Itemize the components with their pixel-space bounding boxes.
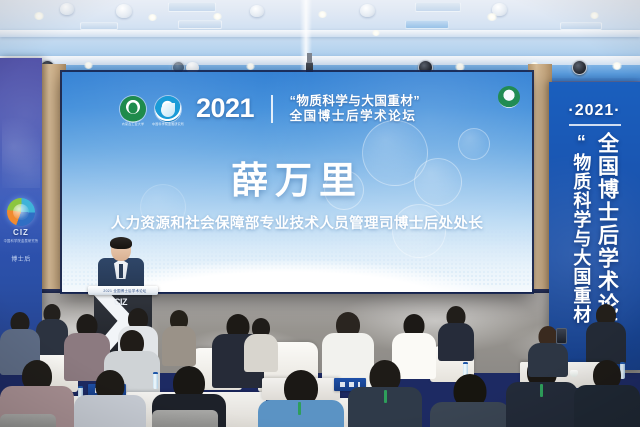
person-body: [162, 326, 196, 366]
ceiling-vent: [415, 2, 461, 12]
lanyard: [384, 390, 387, 403]
lanyard: [298, 402, 301, 415]
chair-back: [0, 414, 56, 427]
podium-plate: 2021 全国博士后学术论坛: [88, 286, 158, 295]
ceiling-speaker-dome: [360, 4, 375, 17]
conference-photo: 内蒙古工业大学 中国科学院金属研究所 2021 “物质科学与大国重材” 全国博士…: [0, 0, 640, 427]
downlight: [246, 63, 255, 70]
downlight: [455, 63, 465, 71]
banner-left-logo-icon: [7, 198, 35, 226]
screen-year: 2021: [196, 95, 254, 122]
ceiling-vent: [178, 20, 222, 29]
screen-title-block: “物质科学与大国重材” 全国博士后学术论坛: [290, 94, 421, 124]
audience-person: [74, 370, 146, 427]
screen-header: 内蒙古工业大学 中国科学院金属研究所 2021 “物质科学与大国重材” 全国博士…: [120, 94, 420, 124]
downlight: [487, 13, 497, 21]
ceiling-speaker-dome: [60, 3, 74, 15]
banner-left-logo-text: CIZ: [0, 228, 42, 237]
banner-right-rule: [569, 124, 621, 126]
person-body: [430, 402, 510, 427]
downlight: [34, 12, 44, 20]
person-body: [586, 322, 626, 364]
spotlight: [572, 60, 587, 75]
banner-right-year: ·2021·: [549, 102, 640, 120]
institute-emblem-icon: 中国科学院金属研究所: [155, 96, 181, 122]
university-emblem-icon: 内蒙古工业大学: [120, 96, 146, 122]
person-body: [528, 343, 568, 377]
audience-person: [258, 370, 344, 427]
university-emblem-caption: 内蒙古工业大学: [122, 123, 144, 126]
person-body: [438, 323, 474, 361]
downlight: [612, 62, 622, 70]
ceiling-vent: [560, 22, 602, 30]
banner-left-decoration: [2, 118, 40, 188]
ceiling-vent: [80, 22, 118, 30]
banner-left-logo-subtitle: 中国科学院金属研究所: [0, 238, 42, 243]
audience-person: [430, 374, 510, 427]
chair-back: [152, 410, 218, 427]
downlight: [318, 11, 327, 18]
audience-person: [438, 306, 474, 354]
audience-person: [162, 310, 196, 360]
forum-name: 全国博士后学术论坛: [290, 109, 421, 123]
lanyard: [540, 384, 543, 397]
ceiling-vent: [168, 2, 216, 12]
header-divider: [271, 95, 273, 123]
podium-plate-text: 2021 全国博士后学术论坛: [94, 288, 156, 293]
person-body: [258, 400, 344, 427]
ceiling-speaker-dome: [116, 4, 132, 18]
ceiling-speaker-dome: [250, 5, 264, 17]
audience-person: [348, 360, 422, 427]
downlight: [372, 30, 380, 36]
audience-area: [0, 300, 640, 427]
banner-left-word: 博士后: [0, 254, 42, 263]
audience-person: [574, 360, 640, 427]
ceiling-vent: [405, 20, 449, 29]
forum-theme: “物质科学与大国重材”: [290, 94, 421, 108]
downlight: [213, 13, 222, 20]
audience-person: [244, 318, 278, 366]
person-body: [74, 395, 146, 427]
smartphone: [556, 328, 567, 344]
downlight: [148, 14, 157, 21]
downlight: [590, 12, 599, 19]
screen-corner-emblem-icon: [498, 86, 520, 108]
institute-emblem-caption: 中国科学院金属研究所: [152, 123, 184, 126]
speaker-name: 薛万里: [62, 150, 532, 204]
speaker-tie: [119, 264, 123, 278]
person-body: [244, 334, 278, 372]
ceiling-band-upper: [0, 30, 640, 37]
speaker-hair: [110, 237, 132, 249]
downlight: [84, 62, 93, 69]
audience-person: [586, 304, 626, 356]
person-body: [574, 385, 640, 427]
